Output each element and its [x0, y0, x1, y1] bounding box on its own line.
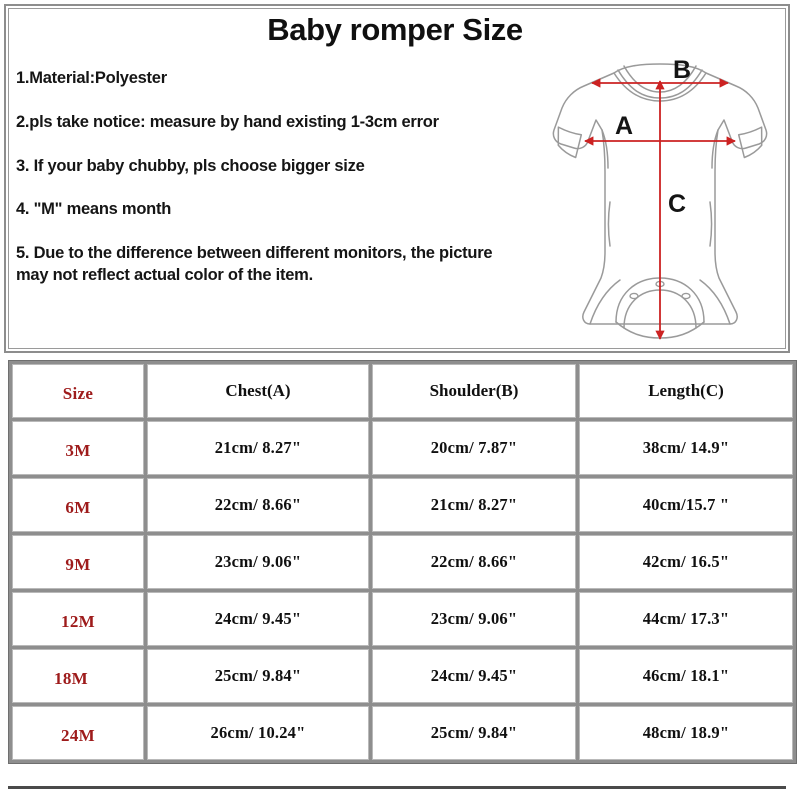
measure-value: 24cm/ 9.45"	[431, 666, 518, 685]
row-shoulder-cell: 22cm/ 8.66"	[372, 535, 576, 589]
row-size-cell: 18M	[12, 649, 144, 703]
table-bottom-rule	[8, 786, 786, 789]
page-title: Baby romper Size	[0, 12, 790, 48]
row-length-cell: 46cm/ 18.1"	[579, 649, 793, 703]
row-length-cell: 38cm/ 14.9"	[579, 421, 793, 475]
table-row: 18M 25cm/ 9.84" 24cm/ 9.45" 46cm/ 18.1"	[12, 649, 793, 703]
note-item: 3. If your baby chubby, pls choose bigge…	[16, 156, 516, 178]
measure-value: 48cm/ 18.9"	[643, 723, 730, 742]
size-label: 9M	[13, 550, 143, 575]
table-row: 3M 21cm/ 8.27" 20cm/ 7.87" 38cm/ 14.9"	[12, 421, 793, 475]
diagram-label-b: B	[673, 56, 691, 84]
measure-value: 23cm/ 9.06"	[431, 609, 518, 628]
row-chest-cell: 23cm/ 9.06"	[147, 535, 369, 589]
size-table-container: Size Chest(A) Shoulder(B) Length(C) 3M	[8, 360, 786, 788]
measure-value: 20cm/ 7.87"	[431, 438, 518, 457]
column-header-label: Shoulder(B)	[430, 381, 519, 400]
table-header-row: Size Chest(A) Shoulder(B) Length(C)	[12, 364, 793, 418]
size-table: Size Chest(A) Shoulder(B) Length(C) 3M	[8, 360, 797, 764]
measure-value: 21cm/ 8.27"	[431, 495, 518, 514]
size-label: 12M	[13, 607, 143, 632]
diagram-label-a: A	[615, 112, 633, 140]
column-header-label: Chest(A)	[225, 381, 290, 400]
row-shoulder-cell: 21cm/ 8.27"	[372, 478, 576, 532]
row-shoulder-cell: 23cm/ 9.06"	[372, 592, 576, 646]
size-label: 6M	[13, 493, 143, 518]
notes-list: 1.Material:Polyester 2.pls take notice: …	[16, 68, 516, 287]
row-size-cell: 6M	[12, 478, 144, 532]
snap-button-left	[630, 293, 638, 298]
row-size-cell: 12M	[12, 592, 144, 646]
row-length-cell: 48cm/ 18.9"	[579, 706, 793, 760]
table-row: 24M 26cm/ 10.24" 25cm/ 9.84" 48cm/ 18.9"	[12, 706, 793, 760]
row-length-cell: 42cm/ 16.5"	[579, 535, 793, 589]
row-length-cell: 44cm/ 17.3"	[579, 592, 793, 646]
table-row: 6M 22cm/ 8.66" 21cm/ 8.27" 40cm/15.7 "	[12, 478, 793, 532]
measure-value: 23cm/ 9.06"	[215, 552, 302, 571]
row-size-cell: 9M	[12, 535, 144, 589]
row-size-cell: 24M	[12, 706, 144, 760]
row-shoulder-cell: 20cm/ 7.87"	[372, 421, 576, 475]
column-header-label: Size	[13, 379, 143, 404]
measure-value: 42cm/ 16.5"	[643, 552, 730, 571]
row-chest-cell: 22cm/ 8.66"	[147, 478, 369, 532]
table-header-shoulder: Shoulder(B)	[372, 364, 576, 418]
size-chart-page: Baby romper Size 1.Material:Polyester 2.…	[0, 0, 800, 800]
size-label: 3M	[13, 436, 143, 461]
row-chest-cell: 25cm/ 9.84"	[147, 649, 369, 703]
measure-value: 22cm/ 8.66"	[215, 495, 302, 514]
measure-value: 46cm/ 18.1"	[643, 666, 730, 685]
snap-button-right	[682, 293, 690, 298]
measure-value: 24cm/ 9.45"	[215, 609, 302, 628]
measure-value: 21cm/ 8.27"	[215, 438, 302, 457]
measure-value: 22cm/ 8.66"	[431, 552, 518, 571]
diagram-label-c: C	[668, 190, 686, 218]
table-header-length: Length(C)	[579, 364, 793, 418]
table-header-chest: Chest(A)	[147, 364, 369, 418]
row-shoulder-cell: 24cm/ 9.45"	[372, 649, 576, 703]
row-chest-cell: 26cm/ 10.24"	[147, 706, 369, 760]
measure-value: 25cm/ 9.84"	[431, 723, 518, 742]
size-label: 24M	[13, 721, 143, 746]
measure-value: 25cm/ 9.84"	[215, 666, 302, 685]
measure-value: 38cm/ 14.9"	[643, 438, 730, 457]
note-item: 1.Material:Polyester	[16, 68, 516, 90]
note-item: 2.pls take notice: measure by hand exist…	[16, 112, 516, 134]
note-item: 5. Due to the difference between differe…	[16, 243, 516, 287]
row-chest-cell: 24cm/ 9.45"	[147, 592, 369, 646]
column-header-label: Length(C)	[648, 381, 724, 400]
table-header-size: Size	[12, 364, 144, 418]
table-row: 9M 23cm/ 9.06" 22cm/ 8.66" 42cm/ 16.5"	[12, 535, 793, 589]
note-item: 4. "M" means month	[16, 199, 516, 221]
row-chest-cell: 21cm/ 8.27"	[147, 421, 369, 475]
measure-value: 26cm/ 10.24"	[211, 723, 306, 742]
size-label: 18M	[13, 664, 143, 689]
row-size-cell: 3M	[12, 421, 144, 475]
measure-value: 40cm/15.7 "	[643, 495, 730, 514]
table-row: 12M 24cm/ 9.45" 23cm/ 9.06" 44cm/ 17.3"	[12, 592, 793, 646]
measure-value: 44cm/ 17.3"	[643, 609, 730, 628]
row-length-cell: 40cm/15.7 "	[579, 478, 793, 532]
romper-diagram: B A C	[540, 56, 780, 350]
row-shoulder-cell: 25cm/ 9.84"	[372, 706, 576, 760]
